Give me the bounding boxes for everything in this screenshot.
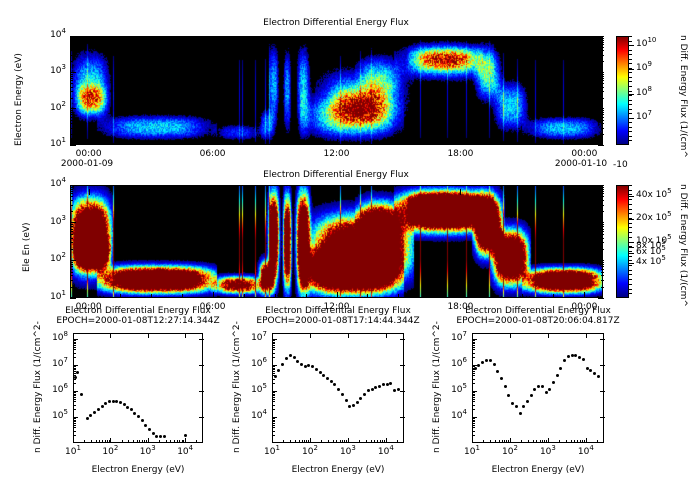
ytick-label: 103 [50,66,66,76]
ytick-minor [70,50,73,51]
spectrum-xtick-minor [566,440,567,443]
spectrum-xtick [310,438,311,443]
ytick-minor-right [601,76,604,77]
ytick-major-right [598,36,604,37]
spectrum-ytick-minor [272,343,275,344]
xtick-major-top [337,189,338,195]
xtick-major-top [584,36,585,42]
spectrum-xtick-top [548,333,549,338]
xtick-minor [182,141,183,145]
spectrum-xtick-top [386,333,387,338]
cbar-tick-minor [629,289,632,290]
spectrum-data-point [345,399,348,402]
ytick-major-right [598,260,604,261]
ytick-major-right [598,145,604,146]
xtick-minor [306,141,307,145]
spectrum-ylabel: n Diff. Energy Flux (1/(cm^2- [232,321,242,453]
spectrum-xtick-top [110,333,111,338]
ytick-minor-right [601,38,604,39]
spectrum-ytick-minor [472,421,475,422]
spectrum-xtick-minor [371,440,372,443]
spectrum-data-point [337,388,340,391]
ytick-major [70,222,76,223]
xtick-major [460,139,461,145]
spectrum-xtick-minor [306,440,307,443]
spectrum-ytick-minor [272,383,275,384]
spectrum-ytick-minor [272,427,275,428]
spectrum-ytick-minor [73,353,76,354]
ytick-major [70,36,76,37]
cbar-tick-minor [629,77,632,78]
ytick-minor-right [601,80,604,81]
spectrum-data-point [552,381,555,384]
ytick-major-right [598,222,604,223]
spectrum-ytick-right [400,417,405,418]
spectrum-ytick-minor [272,347,275,348]
spectrum-ytick-minor [272,395,275,396]
spectrum-xtick-label: 102 [302,447,318,457]
spectrum-data-point [277,369,280,372]
xtick-label: 00:00 [76,149,102,159]
ytick-minor-right [601,242,604,243]
xtick-major [337,139,338,145]
ytick-minor-right [601,249,604,250]
spectrum-ylabel: n Diff. Energy Flux (1/(cm^2- [432,321,442,453]
spectrum-data-point [311,365,314,368]
ytick-minor-right [601,110,604,111]
cbar-tick-minor [629,194,632,195]
spectrum-ytick-minor [272,379,275,380]
ytick-minor [70,42,73,43]
spectrum-ytick-right [600,365,605,366]
ytick-minor-right [601,123,604,124]
ytick-minor [70,193,73,194]
cbar-tick-minor [629,127,632,128]
ytick-major-right [598,298,604,299]
ytick-minor-right [601,272,604,273]
ytick-major [70,72,76,73]
spectrum-data-point [571,354,574,357]
spectrum-xtick-minor [328,440,329,443]
spectrum-data-point [515,405,518,408]
ytick-minor [70,275,73,276]
spectrum-data-point [519,412,522,415]
ytick-label: 102 [50,254,66,264]
spectrum-data-point [504,385,507,388]
ytick-minor-right [601,189,604,190]
spectrum-ylabel: n Diff. Energy Flux (1/(cm^2- [33,321,43,453]
ytick-minor [70,38,73,39]
spectrum-xtick [185,438,186,443]
xtick-label: 18:00 [447,149,473,159]
cbar-tick-label: 20x 105 [636,213,672,223]
cbar-tick-minor [629,131,632,132]
ytick-minor [70,287,73,288]
cbar-tick [629,253,634,254]
spectrum-ytick-minor [272,342,275,343]
spectrum-xtick [110,438,111,443]
middle-plot-frame [70,185,603,298]
cbar-tick-minor [629,232,632,233]
spectrum-ytick-minor [272,405,275,406]
ytick-minor-right [601,78,604,79]
ytick-minor-right [601,83,604,84]
ytick-minor [70,231,73,232]
spectrum-xtick-label: 103 [340,447,356,457]
spectrum-ytick-label: 107 [451,333,467,343]
cbar-tick-minor [629,213,632,214]
cbar-tick-minor [629,246,632,247]
spectrum-ytick-minor [272,371,275,372]
spectrum-xtick-label: 103 [540,447,556,457]
ytick-label: 104 [50,179,66,189]
xtick-minor [398,294,399,298]
ytick-minor-right [601,112,604,113]
xtick-label: 00:00 [571,149,597,159]
spectrum-xtick-top [348,333,349,338]
cbar-tick-minor [629,227,632,228]
spectrum-ytick-minor [73,431,76,432]
spectrum-ytick-right [600,339,605,340]
top-panel-title: Electron Differential Energy Flux [263,18,409,28]
xtick-major-top [584,189,585,195]
xtick-major-top [89,36,90,42]
ytick-label: 101 [50,292,66,302]
spectrum-xtick-minor [91,440,92,443]
spectrum-xtick [586,438,587,443]
xtick-minor [151,294,152,298]
spectrum-xlabel: Electron Energy (eV) [92,465,185,475]
ytick-minor [70,242,73,243]
ytick-major [70,298,76,299]
spectrum-xtick-minor [536,440,537,443]
xtick-major-top [213,189,214,195]
ytick-minor [70,262,73,263]
spectrum-data-point [152,432,155,435]
spectrum-title: Electron Differential Energy Flux [465,306,611,316]
xtick-minor [244,141,245,145]
spectrum-ytick-minor [472,423,475,424]
xtick-major-top [460,189,461,195]
ytick-minor [70,47,73,48]
spectrum-ytick-minor [272,357,275,358]
spectrum-xtick [472,438,473,443]
spectrum-xtick-minor [544,440,545,443]
ytick-minor [70,83,73,84]
cbar-tick-minor [629,199,632,200]
ytick-minor [70,55,73,56]
ytick-minor-right [601,40,604,41]
spectrum-xtick-top [73,333,74,338]
xtick-minor [553,294,554,298]
spectrum-xtick-minor [102,440,103,443]
spectrum-data-point [474,367,477,370]
spectrum-ytick-right [600,417,605,418]
cbar-tick-minor [629,118,632,119]
ytick-major [70,260,76,261]
spectrum-xtick-minor [142,440,143,443]
spectrum-data-point [322,374,325,377]
spectrum-ytick-minor [73,399,76,400]
ytick-minor [70,128,73,129]
spectrum-ytick-minor [472,353,475,354]
cbar-tick-label: 107 [636,112,652,122]
spectrum-data-point [315,368,318,371]
spectrum-data-point [586,367,589,370]
cbar-tick-minor [629,54,632,55]
spectrum-xtick-label: 101 [264,447,280,457]
spectrum-xtick-minor [170,440,171,443]
spectrum-xtick-label: 104 [177,447,193,457]
xtick-minor [367,141,368,145]
spectrum-ytick-minor [73,392,76,393]
spectrum-xtick-minor [340,440,341,443]
ytick-minor-right [601,211,604,212]
spectrum-ytick-label: 107 [251,333,267,343]
spectrum-ytick-minor [73,425,76,426]
spectrum-ytick-minor [272,349,275,350]
spectrum-data-point [304,365,307,368]
cbar-tick-label: 1010 [636,39,656,49]
spectrum-ytick-minor [272,435,275,436]
spectrum-xtick-minor [304,440,305,443]
spectrum-ytick-minor [272,397,275,398]
spectrum-data-point [597,375,600,378]
spectrum-ytick-minor [73,368,76,369]
spectrum-data-point [281,363,284,366]
spectrum-data-point [567,355,570,358]
spectrum-xtick-minor [380,440,381,443]
cbar-tick-minor [629,95,632,96]
ytick-minor-right [601,193,604,194]
spectrum-ytick-minor [73,409,76,410]
ytick-minor [70,187,73,188]
ytick-minor [70,44,73,45]
spectrum-xlabel: Electron Energy (eV) [292,465,385,475]
spectrum-ytick-right [199,339,204,340]
spectrum-title: Electron Differential Energy Flux [65,306,211,316]
spectrum-xtick-minor [540,440,541,443]
cbar-tick-minor [629,209,632,210]
spectrum-ytick-minor [272,369,275,370]
cbar-tick-minor [629,36,632,37]
cbar-tick-minor [629,63,632,64]
spectrum-data-point [341,393,344,396]
spectrum-data-point [119,401,122,404]
ytick-minor [70,249,73,250]
spectrum-xtick-minor [533,440,534,443]
cbar-tick-minor [629,100,632,101]
ytick-minor-right [601,238,604,239]
spectrum-xtick-label: 102 [502,447,518,457]
ytick-minor [70,80,73,81]
spectrum-ytick-minor [272,340,275,341]
spectrum-data-point [548,388,551,391]
spectrum-ytick-minor [472,392,475,393]
spectrum-ytick-minor [472,340,475,341]
cbar-tick-label: 108 [636,88,652,98]
spectrum-xtick-minor [321,440,322,443]
ytick-minor [70,98,73,99]
spectrum-xtick-minor [382,440,383,443]
spectrum-ytick-right [400,391,405,392]
ytick-minor-right [601,120,604,121]
spectrum-data-point [93,411,96,414]
ytick-minor [70,76,73,77]
ytick-minor [70,110,73,111]
spectrum-ytick-minor [73,435,76,436]
ytick-minor [70,189,73,190]
ytick-major [70,145,76,146]
cbar-tick-minor [629,190,632,191]
ytick-minor [70,280,73,281]
spectrum-xtick-minor [490,440,491,443]
spectrum-ytick-minor [472,427,475,428]
spectrum-ytick-label: 105 [251,385,267,395]
ytick-minor-right [601,50,604,51]
spectrum-xtick-top [185,333,186,338]
cbar-tick-minor [629,218,632,219]
spectrum-data-point [500,377,503,380]
ytick-minor-right [601,200,604,201]
spectrum-data-point [326,377,329,380]
cbar-tick-label: 4x 105 [636,257,666,267]
spectrum-xtick-minor [133,440,134,443]
spectrum-xtick [386,438,387,443]
middle-panel-title: Electron Differential Energy Flux [263,170,409,180]
spectrum-ytick-minor [73,347,76,348]
ytick-minor [70,74,73,75]
cbar-tick-label: 40x 105 [636,190,672,200]
xtick-major-top [213,36,214,42]
ytick-minor-right [601,262,604,263]
spectrum-ytick-minor [73,401,76,402]
spectrum-data-point [97,408,100,411]
xtick-minor [429,141,430,145]
cbar-tick-minor [629,260,632,261]
spectrum-data-point [330,380,333,383]
ytick-minor-right [601,269,604,270]
spectrum-xtick-minor [137,440,138,443]
top-ylabel: Electron Energy (eV) [14,53,24,146]
spectrum-ytick-minor [472,399,475,400]
ytick-label: 104 [50,30,66,40]
ytick-minor [70,211,73,212]
spectrum-ytick-minor [272,366,275,367]
ytick-minor-right [601,280,604,281]
ytick-minor [70,269,73,270]
ytick-minor [70,226,73,227]
spectrum-xtick-label: 104 [578,447,594,457]
spectrum-xtick-minor [374,440,375,443]
cbar-tick [629,69,634,70]
spectrum-xtick-top [272,333,273,338]
xtick-minor [275,141,276,145]
spectrum-xtick-minor [521,440,522,443]
ytick-label: 102 [50,103,66,113]
spectrum-ytick-minor [272,409,275,410]
xtick-minor [182,294,183,298]
xtick-minor [522,294,523,298]
ytick-minor-right [601,266,604,267]
spectrum-xtick-minor [128,440,129,443]
cbar-tick-minor [629,50,632,51]
spectrum-xtick-minor [366,440,367,443]
ytick-minor [70,123,73,124]
spectrum-ytick-minor [472,375,475,376]
spectrum-ytick-minor [272,401,275,402]
spectrum-ytick-minor [472,357,475,358]
ytick-major [70,185,76,186]
spectrum-data-point [101,405,104,408]
ytick-minor-right [601,117,604,118]
spectrum-xtick-minor [99,440,100,443]
ytick-minor-right [601,196,604,197]
spectrum-data-point [274,375,277,378]
ytick-label: 103 [50,217,66,227]
middle-colorbar-label: n Diff. Energy Flux (1/(cm^ [678,184,688,307]
spectrum-ytick-minor [472,343,475,344]
ytick-minor [70,134,73,135]
spectrum-data-point [126,406,129,409]
spectrum-xtick-minor [182,440,183,443]
spectrum-ytick-minor [73,405,76,406]
spectrum-xtick-minor [597,440,598,443]
spectrum-ytick-minor [272,420,275,421]
spectrum-ytick-right [400,339,405,340]
xtick-major-top [89,189,90,195]
spectrum-epoch: EPOCH=2000-01-08T17:14:44.344Z [256,316,419,326]
spectrum-ytick-label: 106 [52,385,68,395]
spectrum-xtick-minor [122,440,123,443]
xtick-minor [244,294,245,298]
ytick-minor-right [601,275,604,276]
spectrum-ytick-minor [73,343,76,344]
spectrum-xtick-label: 104 [378,447,394,457]
ytick-minor [70,196,73,197]
spectrum-ytick-minor [472,345,475,346]
spectrum-xtick [272,438,273,443]
spectrum-xtick-minor [174,440,175,443]
spectrum-xtick [348,438,349,443]
ytick-minor-right [601,91,604,92]
spectrum-xtick-label: 103 [140,447,156,457]
spectrum-xtick-top [148,333,149,338]
spectrum-ytick-minor [272,392,275,393]
top-xtick-date-left: 2000-01-09 [61,159,113,169]
ytick-minor-right [601,226,604,227]
spectrum-data-point [371,388,374,391]
spectrum-ytick-minor [272,421,275,422]
ytick-minor [70,205,73,206]
spectrum-xtick-top [586,333,587,338]
spectrum-xtick-minor [502,440,503,443]
ytick-minor-right [601,231,604,232]
spectrum-ytick-minor [472,435,475,436]
spectrum-xtick-minor [299,440,300,443]
spectrum-xtick-minor [302,440,303,443]
xtick-minor [367,294,368,298]
spectrum-ytick-minor [472,431,475,432]
spectrum-ytick-minor [472,418,475,419]
xtick-major [584,139,585,145]
xtick-minor [120,141,121,145]
spectrum-epoch: EPOCH=2000-01-08T12:27:14.344Z [56,316,219,326]
spectrum-data-point [356,401,359,404]
spectrum-xtick [548,438,549,443]
spectrum-xtick-minor [96,440,97,443]
spectrum-xtick-minor [504,440,505,443]
